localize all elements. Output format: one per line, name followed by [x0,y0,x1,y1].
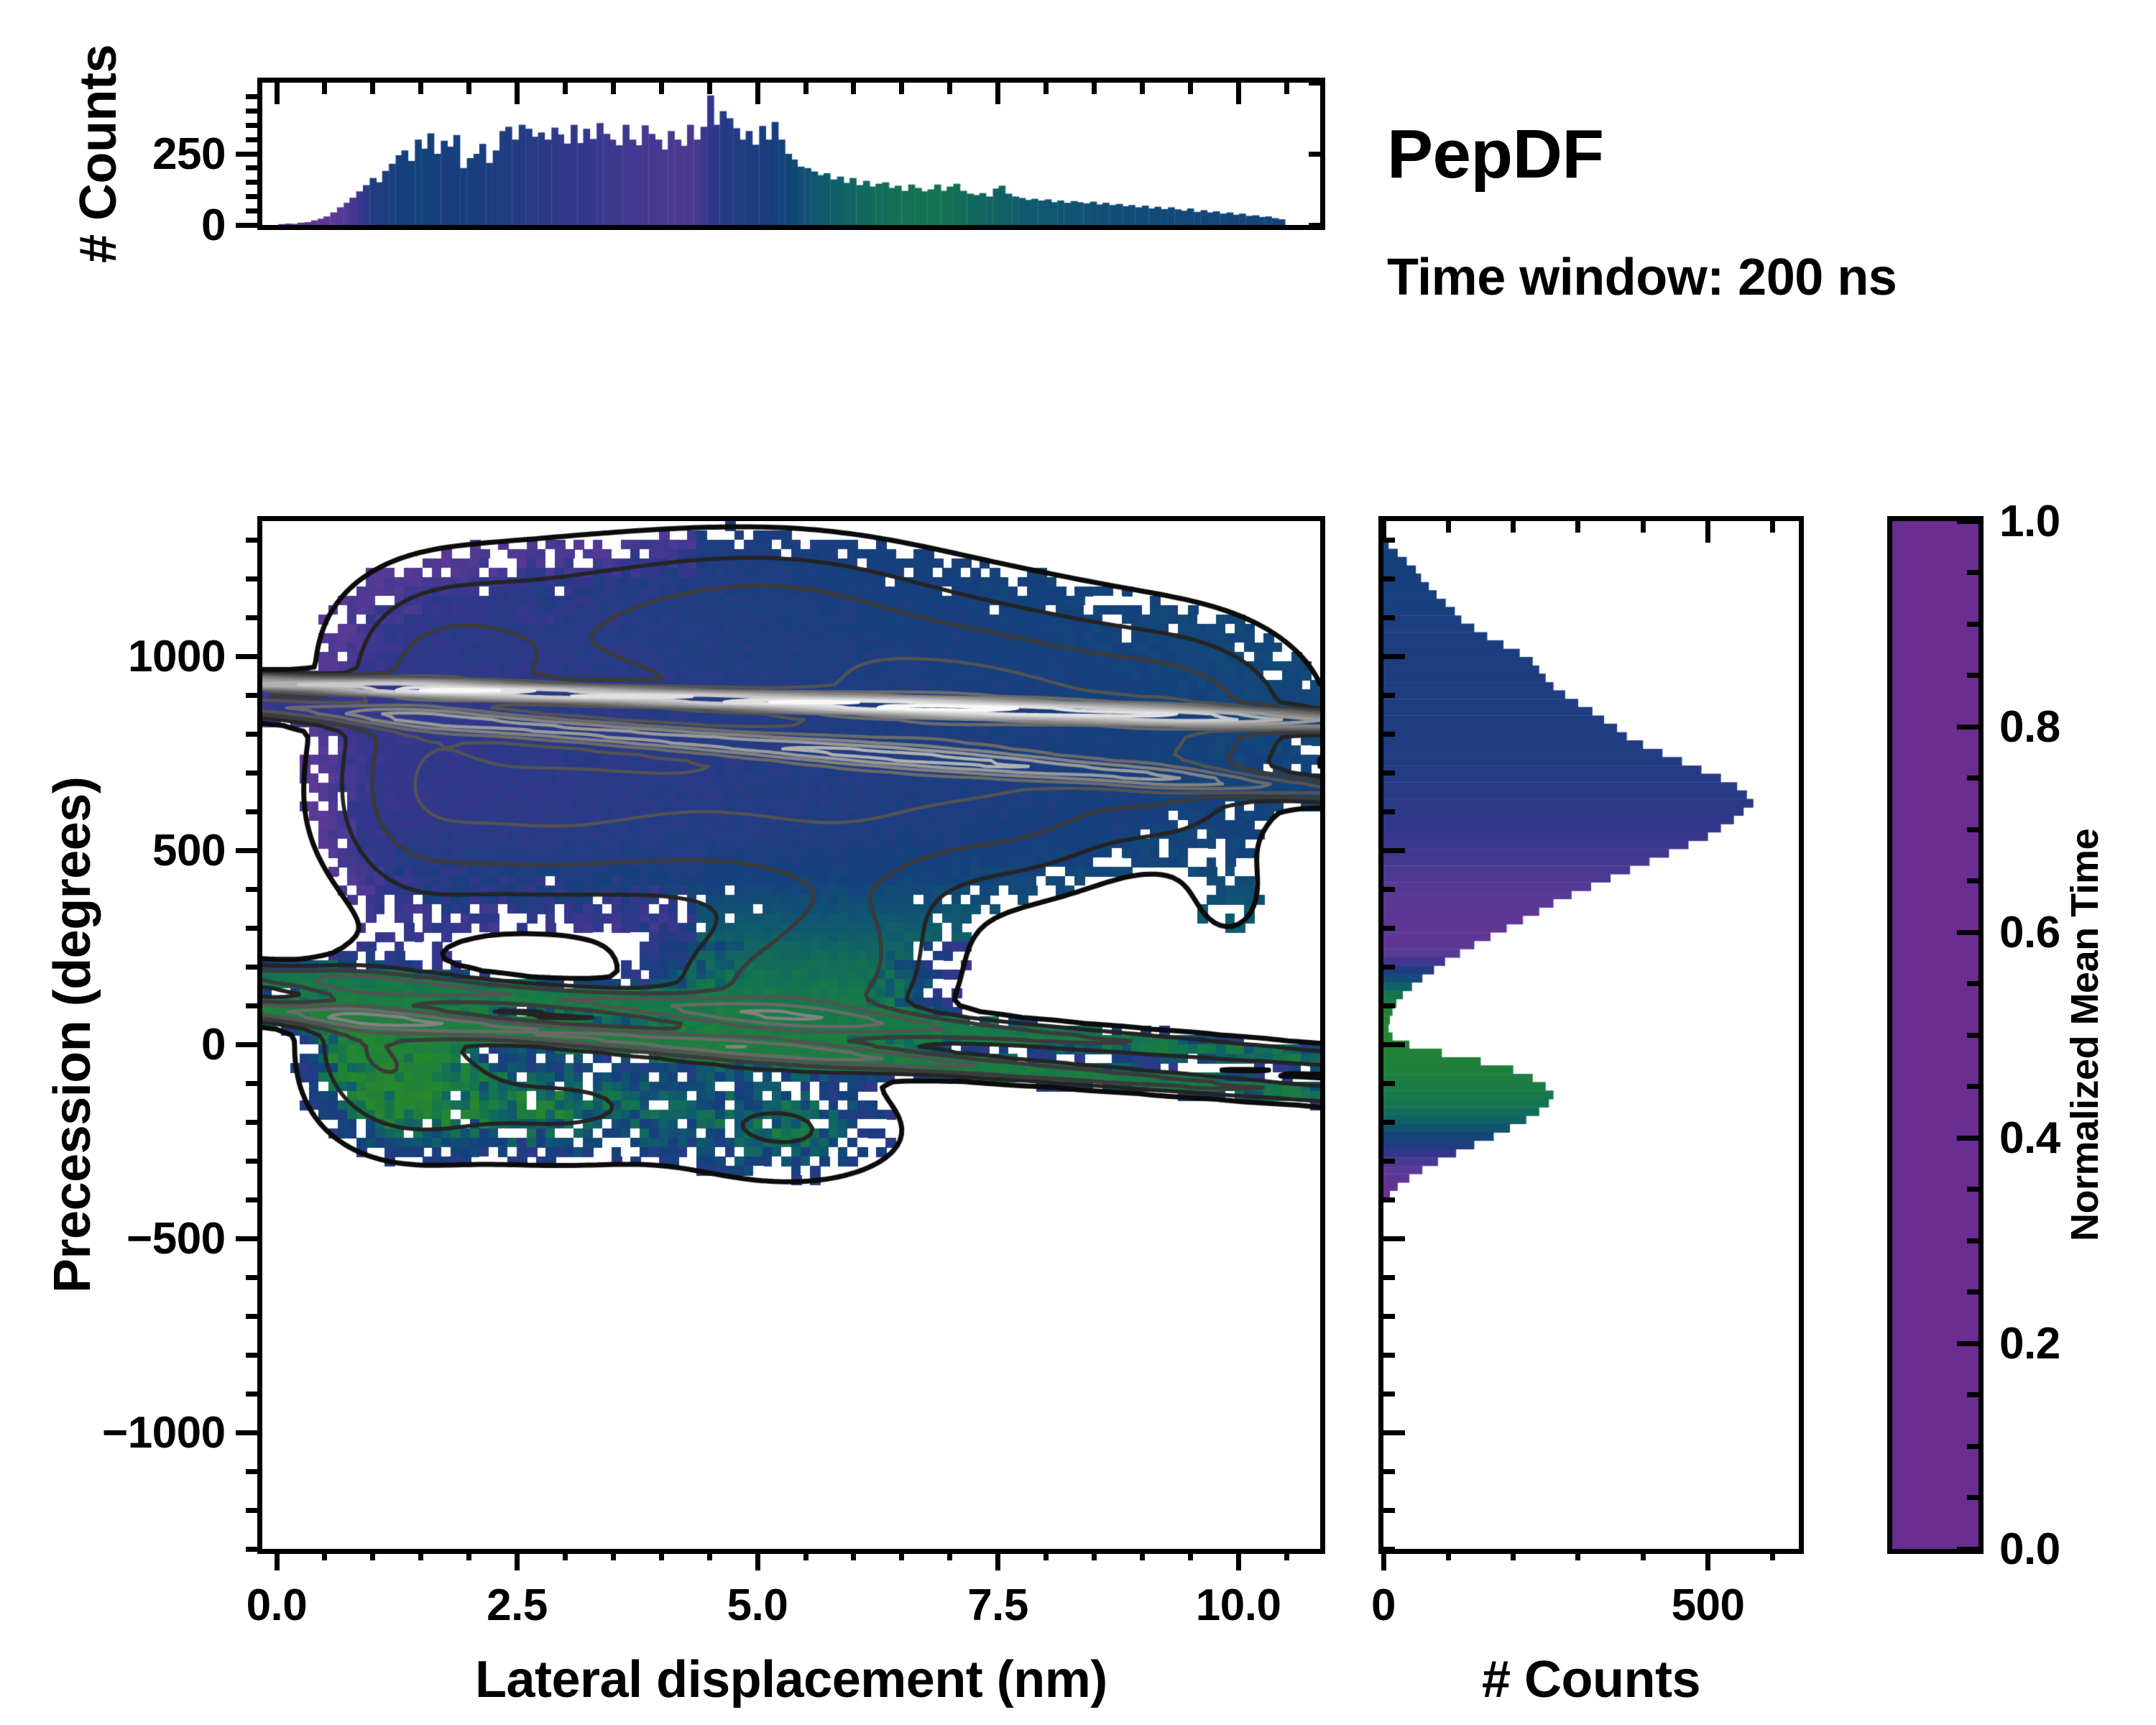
top-hist-ytick-right [1309,223,1320,228]
colorbar-tick-minor [1967,1495,1978,1500]
main-ytick-minor [246,926,257,931]
top-hist-xtick [370,83,375,94]
main-ytick-minor [246,770,257,776]
right-hist-ytick [1383,1042,1405,1047]
colorbar-tick-minor [1967,1187,1978,1192]
right-hist-ytick [1383,1236,1405,1241]
top-hist-xtick [1044,83,1049,94]
right-hist-xtick-1 [1705,1549,1710,1570]
colorbar-ticklabel-3: 0.6 [1999,907,2060,958]
main-ytick-minor [246,1314,257,1319]
top-hist-ylabel: # Counts [69,45,128,263]
right-hist-ytick [1383,654,1405,659]
main-xtick-4 [1236,1549,1241,1570]
main-ytick-minor [246,1159,257,1164]
main-xtick-minor [418,1549,423,1560]
colorbar-ticklabel-4: 0.8 [1999,701,2060,753]
right-hist-xtick-top [1770,521,1775,533]
right-hist-xtick-minor [1770,1549,1775,1560]
top-hist-ytick-minor [246,180,257,185]
colorbar-tick-minor [1967,981,1978,986]
top-hist-xtick [947,83,952,94]
colorbar-ticklabel-0: 0.0 [1999,1524,2060,1575]
right-hist-ytick [1383,848,1405,853]
top-hist-ytick-minor [246,208,257,213]
main-ytick-0 [236,654,257,659]
right-hist-ytick [1383,1353,1395,1358]
top-histogram-canvas [262,83,1320,225]
top-hist-ytick-minor [246,165,257,170]
top-hist-xtick [659,83,664,94]
main-ytick-minor [246,538,257,543]
main-xtick-2 [755,1549,760,1570]
right-hist-ytick [1383,965,1395,970]
right-hist-ytick [1383,1197,1395,1202]
main-ytick-minor [246,693,257,698]
top-hist-ytick-minor [246,194,257,199]
top-hist-xtick [515,83,520,104]
main-xtick-minor [803,1549,808,1560]
top-hist-ytick-0: 0 [201,200,226,251]
top-hist-xtick [851,83,856,94]
colorbar-tick-2 [1957,1136,1978,1141]
right-hist-xticklabel-1: 500 [1672,1580,1745,1631]
main-ytick-minor [246,615,257,620]
right-hist-ytick [1383,926,1395,931]
main-yticklabel-1: 500 [152,825,226,876]
main-ytick-minor [246,1003,257,1008]
main-ytick-4 [236,1430,257,1435]
main-xtick-minor [659,1549,664,1560]
top-hist-xtick [1092,83,1097,94]
top-hist-xtick [803,83,808,94]
main-xtick-minor [563,1549,568,1560]
main-ylabel: Precession (degrees) [43,777,102,1293]
main-ytick-minor [246,887,257,892]
right-hist-ytick [1383,887,1395,892]
top-hist-ytick-minor [246,94,257,99]
right-histogram-canvas [1383,521,1799,1549]
main-xticklabel-4: 10.0 [1196,1580,1281,1631]
right-hist-xtick-top [1705,521,1710,543]
main-xtick-minor [707,1549,712,1560]
main-xtick-0 [275,1549,280,1570]
top-hist-xtick [755,83,760,104]
top-hist-xtick [1236,83,1241,104]
main-ytick-3 [236,1236,257,1241]
top-marginal-histogram-axes [257,78,1325,230]
main-xtick-minor [1188,1549,1193,1560]
right-hist-xtick-top [1446,521,1451,533]
colorbar-tick-minor [1967,1444,1978,1449]
main-xtick-minor [370,1549,375,1560]
colorbar-ticklabel-2: 0.4 [1999,1113,2060,1164]
right-hist-xtick-top [1575,521,1580,533]
main-xtick-minor [947,1549,952,1560]
top-hist-ytick-right [1309,80,1320,86]
colorbar-label: Normalized Mean Time [2063,829,2107,1241]
right-hist-ytick [1383,809,1395,814]
main-xtick-minor [611,1549,616,1560]
main-ytick-minor [246,1275,257,1280]
colorbar-tick-minor [1967,570,1978,575]
main-xtick-minor [1140,1549,1145,1560]
top-hist-xtick [322,83,327,94]
right-hist-ytick [1383,1391,1395,1397]
colorbar-tick-4 [1957,724,1978,730]
page-title: PepDF [1387,115,1604,194]
right-hist-ytick [1383,1430,1405,1435]
top-hist-ytick-minor [246,123,257,128]
joint-heatmap-canvas [262,521,1320,1549]
main-ytick-minor [246,1391,257,1397]
main-joint-histogram-axes [257,516,1325,1554]
right-hist-ytick [1383,576,1395,581]
top-hist-xtick [611,83,616,94]
top-hist-xtick [899,83,904,94]
colorbar-tick-minor [1967,1084,1978,1089]
figure-root: PepDF Time window: 200 ns 0 250 # Counts… [0,0,2156,1725]
colorbar-tick-0 [1957,1547,1978,1552]
right-hist-ytick [1383,693,1395,698]
right-hist-ytick [1383,1120,1395,1125]
top-hist-xtick [707,83,712,94]
colorbar-tick-minor [1967,827,1978,832]
main-ytick-minor [246,732,257,737]
main-ytick-minor [246,1353,257,1358]
top-hist-ytick-0 [236,223,257,228]
top-hist-xtick [563,83,568,94]
top-hist-ytick-minor [246,109,257,114]
top-hist-ytick-right [1309,152,1320,157]
top-hist-ytick-250: 250 [152,129,226,180]
right-hist-ytick [1383,1547,1395,1552]
right-hist-xlabel: # Counts [1482,1650,1700,1709]
main-xtick-minor [322,1549,327,1560]
main-xticklabel-1: 2.5 [487,1580,548,1631]
right-hist-ytick [1383,1275,1395,1280]
main-xtick-minor [851,1549,856,1560]
main-xtick-minor [899,1549,904,1560]
main-yticklabel-4: −1000 [102,1407,226,1458]
right-hist-ytick [1383,1469,1395,1474]
main-xtick-minor [1044,1549,1049,1560]
main-xlabel: Lateral displacement (nm) [475,1650,1107,1709]
colorbar-tick-minor [1967,1033,1978,1038]
main-xticklabel-3: 7.5 [967,1580,1028,1631]
top-hist-xtick [995,83,1000,104]
colorbar-tick-minor [1967,1289,1978,1294]
colorbar-tick-minor [1967,1238,1978,1243]
right-hist-ytick [1383,770,1395,776]
right-hist-ytick [1383,1159,1395,1164]
colorbar-tick-minor [1967,878,1978,883]
main-ytick-2 [236,1042,257,1047]
right-hist-xtick-0 [1381,1549,1386,1570]
subtitle: Time window: 200 ns [1387,248,1897,307]
main-xtick-minor [1284,1549,1289,1560]
right-hist-xtick-minor [1446,1549,1451,1560]
main-xticklabel-2: 5.0 [727,1580,788,1631]
main-xtick-minor [1092,1549,1097,1560]
right-hist-ytick [1383,732,1395,737]
main-xticklabel-0: 0.0 [247,1580,308,1631]
main-ytick-minor [246,1508,257,1513]
main-ytick-minor [246,965,257,970]
right-hist-xticklabel-0: 0 [1371,1580,1396,1631]
main-yticklabel-2: 0 [201,1019,226,1070]
colorbar-ticklabel-5: 1.0 [1999,496,2060,547]
colorbar-ticklabel-1: 0.2 [1999,1318,2060,1369]
right-hist-ytick [1383,615,1395,620]
top-hist-xtick [275,83,280,104]
top-hist-xtick [1140,83,1145,94]
colorbar-tick-1 [1957,1341,1978,1346]
colorbar-tick-minor [1967,673,1978,678]
main-xtick-1 [515,1549,520,1570]
right-hist-xtick-top [1381,521,1386,543]
right-hist-xtick-top [1511,521,1516,533]
main-ytick-minor [246,1081,257,1086]
right-hist-ytick [1383,1081,1395,1086]
main-ytick-minor [246,576,257,581]
right-hist-ytick [1383,1508,1395,1513]
main-ytick-minor [246,1120,257,1125]
colorbar-tick-3 [1957,930,1978,935]
colorbar-tick-minor [1967,622,1978,627]
top-hist-xtick [1188,83,1193,94]
colorbar-tick-minor [1967,1392,1978,1397]
main-ytick-1 [236,848,257,853]
top-hist-xtick [418,83,423,94]
top-hist-ytick-minor [246,137,257,142]
main-xtick-3 [995,1549,1000,1570]
colorbar-tick-5 [1957,519,1978,524]
colorbar-gradient [1892,521,1978,1549]
main-ytick-minor [246,1469,257,1474]
main-ytick-minor [246,809,257,814]
colorbar-tick-minor [1967,776,1978,781]
right-hist-xtick-top [1641,521,1646,533]
right-hist-xtick-minor [1511,1549,1516,1560]
right-hist-xtick-minor [1575,1549,1580,1560]
right-marginal-histogram-axes [1378,516,1804,1554]
right-hist-ytick [1383,1003,1395,1008]
main-xtick-minor [466,1549,471,1560]
main-yticklabel-3: −500 [126,1213,226,1264]
main-ytick-minor [246,1547,257,1552]
main-ytick-minor [246,1197,257,1202]
top-hist-ytick-1 [236,152,257,157]
top-hist-xtick [466,83,471,94]
main-yticklabel-0: 1000 [128,631,226,682]
top-hist-xtick [1284,83,1289,94]
right-hist-xtick-minor [1641,1549,1646,1560]
right-hist-ytick [1383,1314,1395,1319]
